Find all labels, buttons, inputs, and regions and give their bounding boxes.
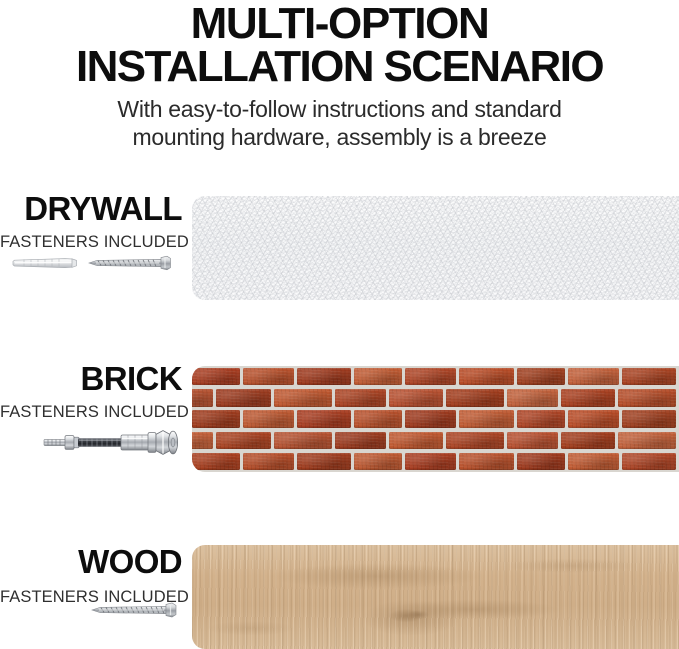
wood-label-column: WOOD FASTENERS INCLUDED bbox=[0, 535, 182, 607]
brick-unit bbox=[618, 389, 676, 406]
brick-unit bbox=[297, 368, 351, 385]
brick-unit bbox=[517, 410, 565, 427]
brick-unit bbox=[192, 389, 213, 406]
brick-unit bbox=[459, 368, 513, 385]
page-subtitle: With easy-to-follow instructions and sta… bbox=[0, 95, 679, 151]
brick-unit bbox=[561, 432, 615, 449]
brick-unit bbox=[446, 389, 504, 406]
brick-course bbox=[192, 430, 679, 451]
material-name-drywall: DRYWALL bbox=[0, 186, 182, 226]
brick-unit bbox=[389, 432, 443, 449]
brick-unit bbox=[622, 453, 676, 470]
brick-texture-swatch bbox=[192, 366, 679, 472]
page-subtitle-line-1: With easy-to-follow instructions and sta… bbox=[0, 95, 679, 123]
drywall-hardware-row bbox=[0, 254, 182, 272]
brick-hardware-row bbox=[0, 426, 184, 460]
drywall-texture-swatch bbox=[192, 196, 679, 300]
brick-unit bbox=[622, 368, 676, 385]
material-name-brick: BRICK bbox=[0, 356, 182, 396]
brick-unit bbox=[192, 453, 240, 470]
page-header: MULTI-OPTION INSTALLATION SCENARIO With … bbox=[0, 0, 679, 151]
fasteners-note-brick: FASTENERS INCLUDED bbox=[0, 396, 182, 422]
brick-unit bbox=[459, 453, 513, 470]
brick-course bbox=[192, 387, 679, 408]
wood-texture-swatch bbox=[192, 545, 679, 649]
brick-unit bbox=[618, 432, 676, 449]
page-title-line-2: INSTALLATION SCENARIO bbox=[0, 45, 679, 88]
brick-unit bbox=[446, 432, 504, 449]
section-wood: WOOD FASTENERS INCLUDED bbox=[0, 535, 679, 649]
brick-unit bbox=[389, 389, 443, 406]
brick-unit bbox=[243, 368, 294, 385]
brick-unit bbox=[274, 389, 332, 406]
brick-unit bbox=[216, 432, 270, 449]
brick-unit bbox=[459, 410, 513, 427]
brick-unit bbox=[335, 432, 386, 449]
page-subtitle-line-2: mounting hardware, assembly is a breeze bbox=[0, 123, 679, 151]
drywall-label-column: DRYWALL FASTENERS INCLUDED bbox=[0, 186, 182, 252]
page-title-line-1: MULTI-OPTION bbox=[0, 2, 679, 45]
wood-hardware-row bbox=[0, 601, 184, 619]
brick-unit bbox=[354, 453, 402, 470]
section-drywall: DRYWALL FASTENERS INCLUDED bbox=[0, 186, 679, 310]
wood-screw-icon bbox=[90, 601, 182, 619]
brick-unit bbox=[243, 453, 294, 470]
brick-unit bbox=[192, 432, 213, 449]
brick-unit bbox=[517, 453, 565, 470]
brick-unit bbox=[405, 368, 456, 385]
brick-unit bbox=[405, 410, 456, 427]
brick-unit bbox=[561, 389, 615, 406]
brick-label-column: BRICK FASTENERS INCLUDED bbox=[0, 356, 182, 422]
screw-icon bbox=[87, 254, 175, 272]
brick-course bbox=[192, 366, 679, 387]
brick-unit bbox=[507, 389, 558, 406]
brick-unit bbox=[517, 368, 565, 385]
brick-unit bbox=[622, 410, 676, 427]
section-brick: BRICK FASTENERS INCLUDED bbox=[0, 356, 679, 482]
brick-unit bbox=[507, 432, 558, 449]
brick-unit bbox=[216, 389, 270, 406]
brick-unit bbox=[243, 410, 294, 427]
brick-unit bbox=[568, 453, 619, 470]
brick-unit bbox=[354, 368, 402, 385]
wall-anchor-icon bbox=[8, 254, 78, 272]
fasteners-note-drywall: FASTENERS INCLUDED bbox=[0, 226, 182, 252]
brick-unit bbox=[297, 410, 351, 427]
brick-unit bbox=[568, 410, 619, 427]
brick-unit bbox=[354, 410, 402, 427]
brick-unit bbox=[297, 453, 351, 470]
brick-unit bbox=[335, 389, 386, 406]
sleeve-anchor-bolt-icon bbox=[42, 426, 182, 460]
brick-course bbox=[192, 408, 679, 429]
brick-unit bbox=[192, 410, 240, 427]
brick-unit bbox=[192, 368, 240, 385]
material-name-wood: WOOD bbox=[0, 535, 182, 579]
brick-unit bbox=[274, 432, 332, 449]
brick-unit bbox=[568, 368, 619, 385]
brick-unit bbox=[405, 453, 456, 470]
brick-course bbox=[192, 451, 679, 472]
